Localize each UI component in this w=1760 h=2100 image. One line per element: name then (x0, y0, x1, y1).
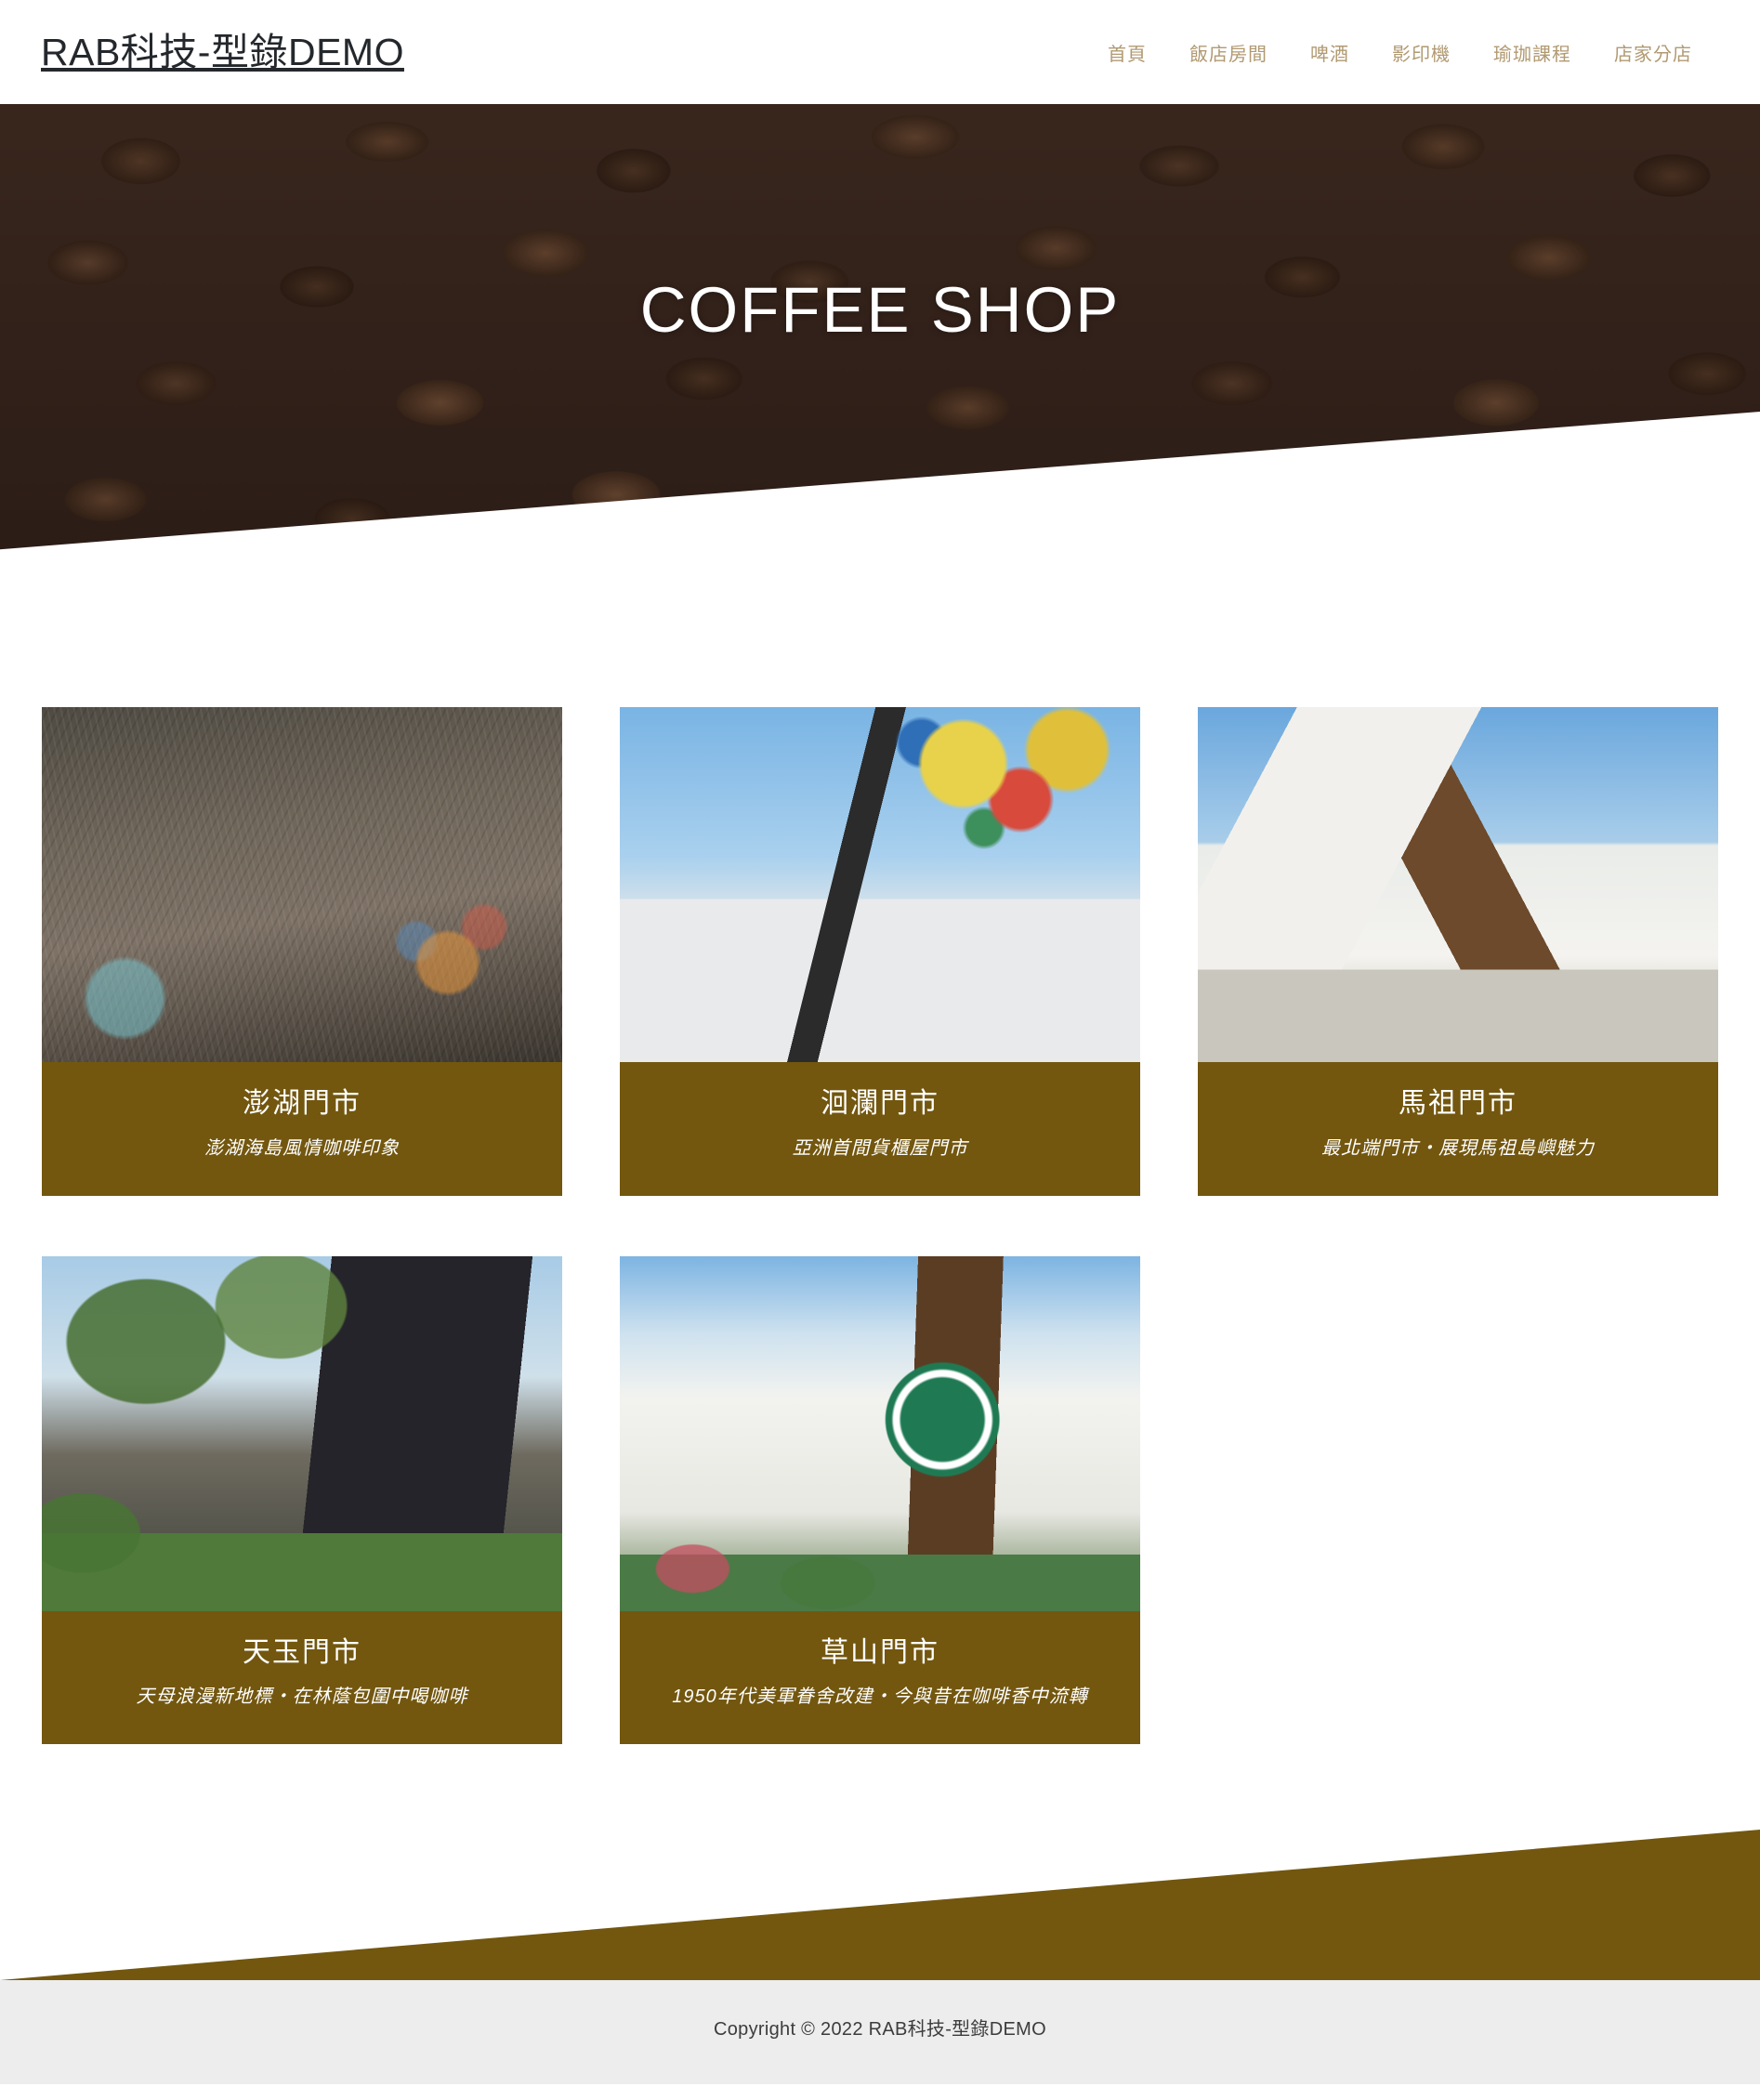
main-navigation: 首頁 飯店房間 啤酒 影印機 瑜珈課程 店家分店 (1086, 32, 1719, 73)
shop-title: 洄瀾門市 (635, 1086, 1125, 1122)
shop-title: 天玉門市 (57, 1635, 547, 1671)
shop-card-body: 洄瀾門市 亞洲首間貨櫃屋門市 (620, 1062, 1140, 1196)
shop-card[interactable]: 澎湖門市 澎湖海島風情咖啡印象 (42, 707, 562, 1196)
copyright-text: Copyright © 2022 RAB科技-型錄DEMO (714, 2014, 1046, 2041)
shop-subtitle: 1950年代美軍眷舍改建・今與昔在咖啡香中流轉 (635, 1685, 1125, 1709)
footer-diagonal-divider (0, 1830, 1760, 1980)
nav-item-copier[interactable]: 影印機 (1371, 32, 1472, 73)
shop-photo (620, 707, 1140, 1062)
nav-item-hotel-rooms[interactable]: 飯店房間 (1168, 32, 1289, 73)
site-logo[interactable]: RAB科技-型錄DEMO (41, 33, 404, 72)
shop-subtitle: 天母浪漫新地標・在林蔭包圍中喝咖啡 (57, 1685, 547, 1709)
hero-banner: COFFEE SHOP (0, 103, 1760, 586)
nav-item-beer[interactable]: 啤酒 (1289, 32, 1371, 73)
shop-list-section: 澎湖門市 澎湖海島風情咖啡印象 洄瀾門市 亞洲首間貨櫃屋門市 馬祖門市 最北端門… (0, 586, 1760, 1744)
shop-photo (1198, 707, 1718, 1062)
nav-item-home[interactable]: 首頁 (1086, 32, 1168, 73)
site-header: RAB科技-型錄DEMO 首頁 飯店房間 啤酒 影印機 瑜珈課程 店家分店 (0, 0, 1760, 104)
hero-title: COFFEE SHOP (0, 278, 1760, 342)
shop-subtitle: 最北端門市・展現馬祖島嶼魅力 (1213, 1136, 1703, 1161)
shop-card-body: 馬祖門市 最北端門市・展現馬祖島嶼魅力 (1198, 1062, 1718, 1196)
shop-subtitle: 亞洲首間貨櫃屋門市 (635, 1136, 1125, 1161)
shop-photo (42, 1256, 562, 1611)
shop-card-body: 天玉門市 天母浪漫新地標・在林蔭包圍中喝咖啡 (42, 1611, 562, 1745)
shop-photo (42, 707, 562, 1062)
shop-card[interactable]: 草山門市 1950年代美軍眷舍改建・今與昔在咖啡香中流轉 (620, 1256, 1140, 1745)
shop-card-body: 澎湖門市 澎湖海島風情咖啡印象 (42, 1062, 562, 1196)
page-root: RAB科技-型錄DEMO 首頁 飯店房間 啤酒 影印機 瑜珈課程 店家分店 CO… (0, 0, 1760, 2100)
shop-card[interactable]: 洄瀾門市 亞洲首間貨櫃屋門市 (620, 707, 1140, 1196)
shop-card-body: 草山門市 1950年代美軍眷舍改建・今與昔在咖啡香中流轉 (620, 1611, 1140, 1745)
shop-photo (620, 1256, 1140, 1611)
nav-item-yoga-course[interactable]: 瑜珈課程 (1472, 32, 1593, 73)
shop-subtitle: 澎湖海島風情咖啡印象 (57, 1136, 547, 1161)
nav-item-branches[interactable]: 店家分店 (1593, 32, 1714, 73)
shop-title: 澎湖門市 (57, 1086, 547, 1122)
shop-title: 草山門市 (635, 1635, 1125, 1671)
shop-card[interactable]: 馬祖門市 最北端門市・展現馬祖島嶼魅力 (1198, 707, 1718, 1196)
site-footer: Copyright © 2022 RAB科技-型錄DEMO (0, 1980, 1760, 2084)
shop-title: 馬祖門市 (1213, 1086, 1703, 1122)
shop-card-grid: 澎湖門市 澎湖海島風情咖啡印象 洄瀾門市 亞洲首間貨櫃屋門市 馬祖門市 最北端門… (42, 707, 1718, 1744)
shop-card[interactable]: 天玉門市 天母浪漫新地標・在林蔭包圍中喝咖啡 (42, 1256, 562, 1745)
